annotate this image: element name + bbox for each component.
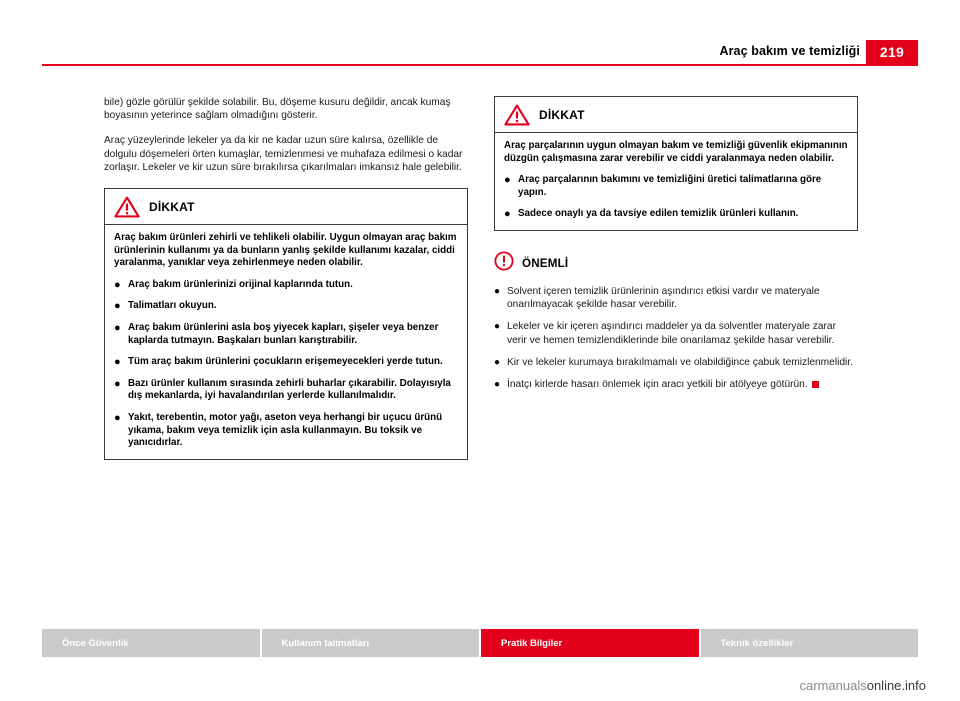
warning-box-right: DİKKAT Araç parçalarının uygun olmayan b…	[494, 96, 858, 231]
page-title: Araç bakım ve temizliği	[719, 44, 860, 58]
warning-triangle-icon	[114, 196, 140, 218]
important-bullet-text: Lekeler ve kir içeren aşındırıcı maddele…	[507, 320, 858, 346]
bullet-dot-icon: ●	[114, 322, 128, 347]
document-page: Araç bakım ve temizliği 219 bile) gözle …	[0, 0, 960, 701]
warning-bullet-text: Tüm araç bakım ürünlerini çocukların eri…	[128, 356, 458, 369]
watermark-light: carmanuals	[800, 678, 867, 693]
warning-box-header: DİKKAT	[495, 97, 857, 133]
important-bullet-item: ● Solvent içeren temizlik ürünlerinin aş…	[494, 285, 858, 311]
warning-bullet-item: ● Araç bakım ürünlerinizi orijinal kapla…	[114, 279, 458, 292]
body-paragraph: bile) gözle görülür şekilde solabilir. B…	[104, 96, 468, 122]
important-box: ÖNEMLİ ● Solvent içeren temizlik ürünler…	[494, 251, 858, 391]
bullet-dot-icon: ●	[504, 174, 518, 199]
important-box-title: ÖNEMLİ	[522, 257, 568, 270]
important-bullet-text: Kir ve lekeler kurumaya bırakılmamalı ve…	[507, 356, 858, 369]
warning-bullet-text: Araç parçalarının bakımını ve temizliğin…	[518, 174, 848, 199]
bullet-dot-icon: ●	[114, 279, 128, 292]
warning-bullet-item: ● Sadece onaylı ya da tavsiye edilen tem…	[504, 208, 848, 221]
bullet-dot-icon: ●	[494, 378, 507, 391]
footer-tab-pratik-bilgiler[interactable]: Pratik Bilgiler	[481, 629, 701, 657]
header-rule	[42, 64, 918, 66]
warning-bullet-item: ● Yakıt, terebentin, motor yağı, aseton …	[114, 412, 458, 450]
important-bullet-item: ● İnatçı kirlerde hasarı önlemek için ar…	[494, 378, 858, 391]
warning-bullet-item: ● Talimatları okuyun.	[114, 300, 458, 313]
warning-triangle-icon	[504, 104, 530, 126]
warning-intro-text: Araç bakım ürünleri zehirli ve tehlikeli…	[114, 232, 458, 270]
bullet-dot-icon: ●	[504, 208, 518, 221]
warning-bullet-text: Bazı ürünler kullanım sırasında zehirli …	[128, 378, 458, 403]
warning-box-content: Araç parçalarının uygun olmayan bakım ve…	[495, 133, 857, 230]
bullet-dot-icon: ●	[494, 356, 507, 369]
footer-tab-teknik-ozellikler[interactable]: Teknik özellikler	[701, 629, 919, 657]
warning-box-title: DİKKAT	[149, 200, 195, 214]
section-end-marker	[812, 381, 819, 388]
bullet-dot-icon: ●	[114, 356, 128, 369]
warning-bullet-item: ● Tüm araç bakım ürünlerini çocukların e…	[114, 356, 458, 369]
body-paragraph: Araç yüzeylerinde lekeler ya da kir ne k…	[104, 134, 468, 174]
important-circle-icon	[494, 251, 514, 276]
warning-box-content: Araç bakım ürünleri zehirli ve tehlikeli…	[105, 225, 467, 459]
bullet-dot-icon: ●	[114, 300, 128, 313]
watermark: carmanualsonline.info	[800, 678, 926, 693]
right-column: DİKKAT Araç parçalarının uygun olmayan b…	[494, 96, 858, 400]
warning-bullet-text: Araç bakım ürünlerini asla boş yiyecek k…	[128, 322, 458, 347]
page-number-badge: 219	[866, 40, 918, 64]
important-bullet-item: ● Lekeler ve kir içeren aşındırıcı madde…	[494, 320, 858, 346]
warning-bullet-item: ● Araç parçalarının bakımını ve temizliğ…	[504, 174, 848, 199]
warning-bullet-text: Yakıt, terebentin, motor yağı, aseton ve…	[128, 412, 458, 450]
important-bullet-text: Solvent içeren temizlik ürünlerinin aşın…	[507, 285, 858, 311]
warning-bullet-text: Talimatları okuyun.	[128, 300, 458, 313]
bullet-dot-icon: ●	[114, 412, 128, 450]
important-box-header: ÖNEMLİ	[494, 251, 858, 276]
warning-box-title: DİKKAT	[539, 108, 585, 122]
warning-box-header: DİKKAT	[105, 189, 467, 225]
warning-box-left: DİKKAT Araç bakım ürünleri zehirli ve te…	[104, 188, 468, 460]
footer-tabs: Önce Güvenlik Kullanım talimatları Prati…	[42, 629, 918, 657]
bullet-dot-icon: ●	[494, 320, 507, 346]
watermark-dark: online.info	[867, 678, 926, 693]
warning-intro-text: Araç parçalarının uygun olmayan bakım ve…	[504, 140, 848, 165]
important-bullet-text: İnatçı kirlerde hasarı önlemek için arac…	[507, 379, 808, 390]
warning-bullet-text: Sadece onaylı ya da tavsiye edilen temiz…	[518, 208, 848, 221]
footer-tab-onc-guvenlik[interactable]: Önce Güvenlik	[42, 629, 262, 657]
left-column: bile) gözle görülür şekilde solabilir. B…	[104, 96, 468, 460]
warning-bullet-text: Araç bakım ürünlerinizi orijinal kapları…	[128, 279, 458, 292]
bullet-dot-icon: ●	[494, 285, 507, 311]
warning-bullet-item: ● Bazı ürünler kullanım sırasında zehirl…	[114, 378, 458, 403]
bullet-dot-icon: ●	[114, 378, 128, 403]
important-bullet-item: ● Kir ve lekeler kurumaya bırakılmamalı …	[494, 356, 858, 369]
footer-tab-kullanim-talimatlari[interactable]: Kullanım talimatları	[262, 629, 482, 657]
warning-bullet-item: ● Araç bakım ürünlerini asla boş yiyecek…	[114, 322, 458, 347]
